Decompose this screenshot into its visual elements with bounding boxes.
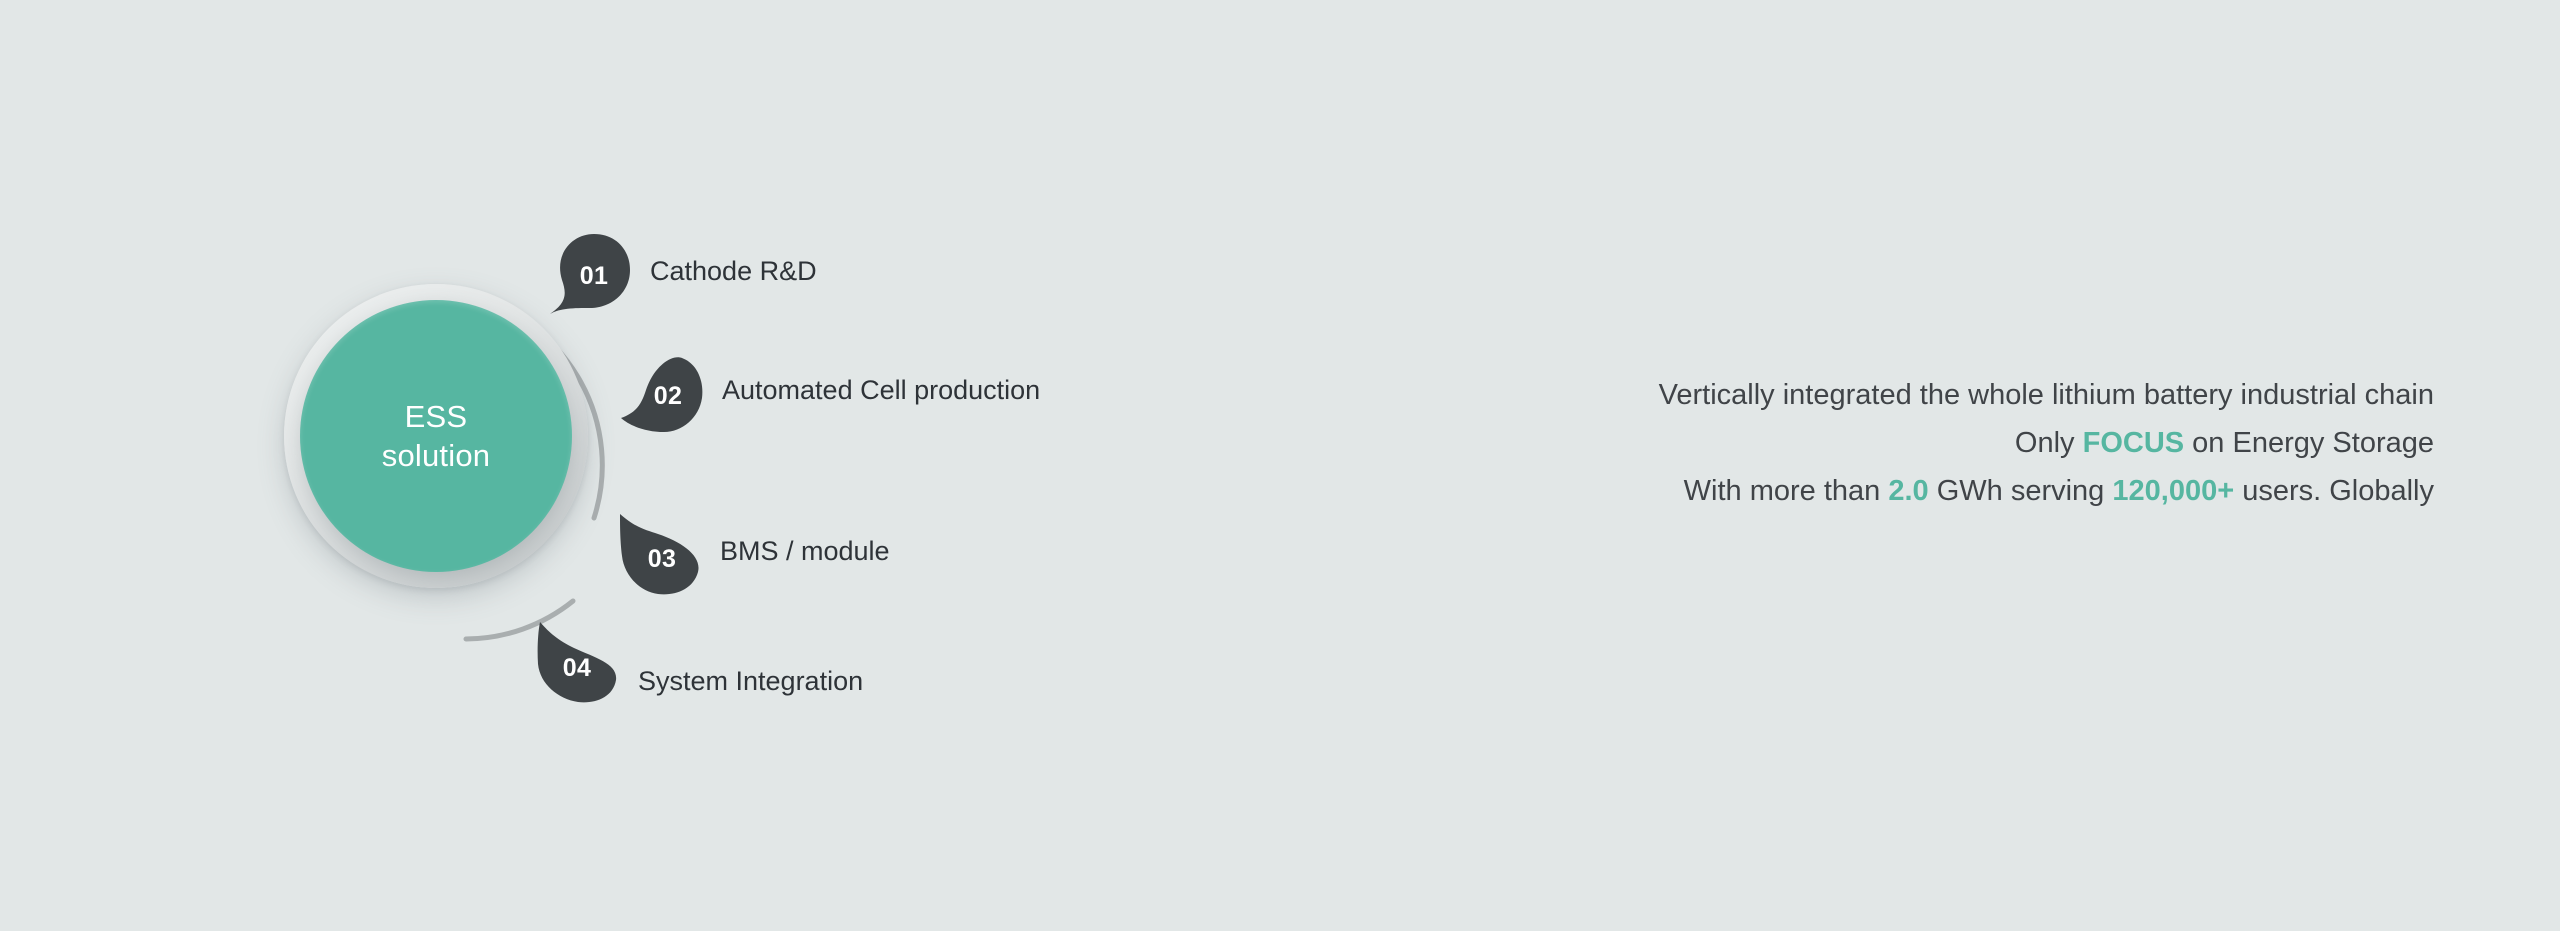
summary-line-1: Vertically integrated the whole lithium … bbox=[1659, 371, 2434, 419]
slide-canvas: ESS solution 01 Cathode R&D 02 Automated… bbox=[0, 0, 2560, 931]
summary-line-3-highlight-users: 120,000+ bbox=[2112, 475, 2234, 507]
hub-circle: ESS solution bbox=[300, 300, 572, 572]
summary-line-3: With more than 2.0 GWh serving 120,000+ … bbox=[1659, 467, 2434, 515]
step-pin-04[interactable]: 04 bbox=[536, 620, 620, 704]
summary-line-3-highlight-capacity: 2.0 bbox=[1888, 475, 1928, 507]
step-label-04: System Integration bbox=[638, 668, 863, 695]
summary-line-2-highlight: FOCUS bbox=[2083, 427, 2185, 459]
connector-arcs bbox=[0, 0, 1300, 931]
step-pin-01[interactable]: 01 bbox=[548, 232, 632, 316]
step-label-02: Automated Cell production bbox=[722, 377, 1040, 404]
hub-title-line-1: ESS bbox=[405, 397, 468, 436]
summary-line-3-pre: With more than bbox=[1684, 475, 1889, 507]
summary-copy-block: Vertically integrated the whole lithium … bbox=[1659, 371, 2434, 515]
step-pin-02[interactable]: 02 bbox=[620, 352, 704, 436]
step-pin-03[interactable]: 03 bbox=[618, 512, 702, 596]
summary-line-2: Only FOCUS on Energy Storage bbox=[1659, 419, 2434, 467]
hub-title-line-2: solution bbox=[382, 436, 490, 475]
step-label-03: BMS / module bbox=[720, 538, 890, 565]
step-label-01: Cathode R&D bbox=[650, 258, 817, 285]
map-pin-icon bbox=[620, 352, 704, 436]
summary-line-2-pre: Only bbox=[2015, 427, 2083, 459]
map-pin-icon bbox=[548, 232, 632, 316]
summary-line-2-post: on Energy Storage bbox=[2184, 427, 2434, 459]
map-pin-icon bbox=[536, 620, 620, 704]
ess-solution-diagram: ESS solution 01 Cathode R&D 02 Automated… bbox=[0, 0, 1300, 931]
summary-line-3-mid: GWh serving bbox=[1929, 475, 2113, 507]
map-pin-icon bbox=[618, 512, 702, 596]
summary-line-3-post: users. Globally bbox=[2234, 475, 2434, 507]
